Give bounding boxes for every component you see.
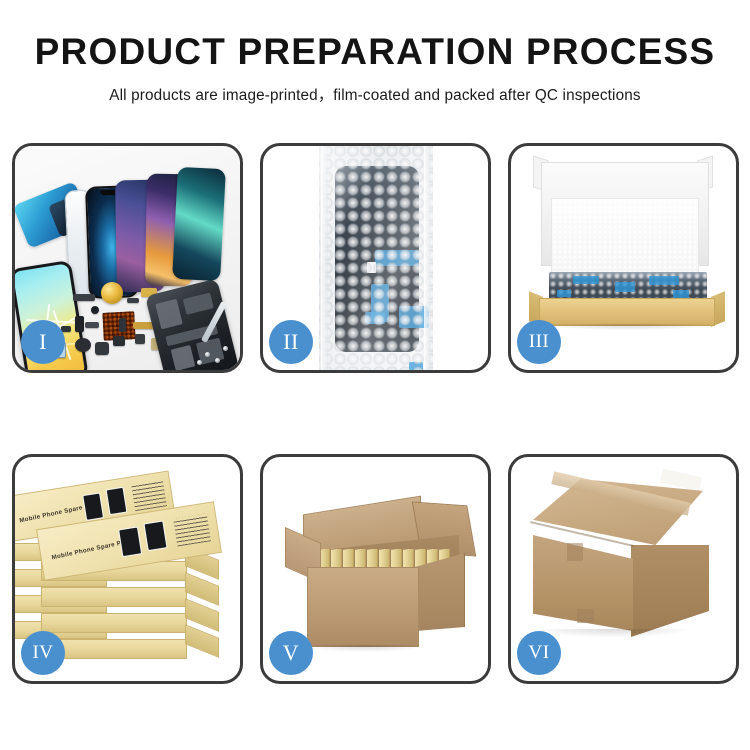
process-step-panel-1: I [12,143,243,373]
spare-part-icon [91,306,99,314]
process-step-panel-6: VI [508,454,739,684]
carton-front-panel [307,567,419,647]
camera-ring-icon [101,282,123,304]
header: PRODUCT PREPARATION PROCESS All products… [0,0,750,130]
step-badge-3: III [517,320,561,364]
internal-module-icon [171,345,196,370]
spare-part-icon [75,338,91,352]
step-badge-1: I [21,320,65,364]
spare-part-icon [113,336,125,346]
kraft-box-body [41,587,187,607]
tape-patch-icon [577,609,594,623]
bubble-wrap-bag [319,146,433,370]
screw-icon [205,352,210,357]
screw-icon [197,360,202,365]
blue-label-icon [615,282,635,292]
spare-part-icon [135,334,145,344]
process-step-grid: I [12,143,740,684]
page-title: PRODUCT PREPARATION PROCESS [0,0,750,72]
spare-part-icon [119,318,126,332]
phone-print-icon [106,487,128,515]
process-step-panel-2: II [260,143,491,373]
step-badge-4: IV [21,631,65,675]
foam-lining [551,198,699,276]
phone-screen-teal [172,167,226,281]
product-preparation-infographic: PRODUCT PREPARATION PROCESS All products… [0,0,750,750]
phone-print-icon [143,520,167,551]
drop-shadow [307,645,423,652]
phone-print-icon [118,526,142,557]
blue-label-icon [573,276,599,284]
spare-part-icon [73,294,95,301]
internal-module-icon [183,292,214,314]
carton-side-panel [631,545,709,637]
drop-shadow [537,629,687,637]
step-badge-5: V [269,631,313,675]
screw-icon [223,346,228,351]
phone-print-icon [82,492,104,520]
spare-part-icon [85,322,99,328]
kraft-box-body [41,613,187,633]
blue-label-icon [673,290,689,298]
spare-part-icon [127,298,139,303]
tape-patch-icon [567,543,583,561]
process-step-panel-5: V [260,454,491,684]
process-step-panel-4: Mobile Phone Spare Parts Mobile Phone Sp… [12,454,243,684]
step-badge-6: VI [517,631,561,675]
process-step-panel-3: III [508,143,739,373]
spec-text-lines [131,480,167,511]
box-front-panel [539,298,715,326]
screw-icon [215,358,220,363]
blue-label-icon [557,290,571,297]
step-badge-2: II [269,320,313,364]
spare-part-icon [95,342,109,355]
blue-label-icon [649,276,679,285]
spare-part-icon [75,316,84,332]
drop-shadow [541,324,713,330]
page-subtitle: All products are image-printed，film-coat… [0,72,750,105]
plastic-sheen [319,146,433,370]
spec-text-lines [173,514,211,547]
internal-module-icon [155,299,183,330]
